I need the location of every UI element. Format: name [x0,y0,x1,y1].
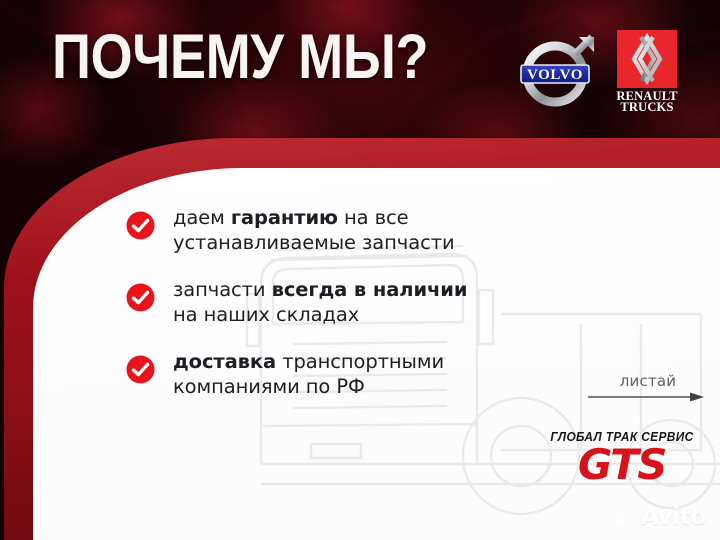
brand-logos: VOLVO RENAULT TRUCKS [518,30,678,112]
text-run: компаниями по РФ [173,375,365,398]
text-run: на все [338,206,409,229]
company-logo: ГЛОБАЛ ТРАК СЕРВИС GTS [537,430,707,488]
svg-text:GTS: GTS [578,442,666,488]
avito-dots-icon [615,506,637,526]
check-circle-icon [126,211,155,240]
volvo-iron-mark-logo: VOLVO [518,30,600,108]
benefits-list: даем гарантию на все устанавливаемые зап… [126,206,556,422]
avito-watermark: Avito [615,502,706,530]
text-run: транспортными [276,350,444,373]
page-title: ПОЧЕМУ МЫ? [52,26,428,89]
company-tagline: ГЛОБАЛ ТРАК СЕРВИС [541,430,703,444]
check-circle-icon [126,355,155,384]
text-run-bold: гарантию [231,206,338,229]
list-item: даем гарантию на все устанавливаемые зап… [126,206,556,255]
renault-diamond-logo: RENAULT TRUCKS [616,30,678,112]
text-run-bold: всегда в наличии [272,278,468,301]
avito-wordmark: Avito [640,502,706,530]
volvo-wordmark: VOLVO [527,67,583,83]
swipe-hint: листай [588,372,708,403]
text-run: на наших складах [173,303,359,326]
text-run: запчасти [173,278,272,301]
check-circle-icon [126,283,155,312]
renault-line2: TRUCKS [620,100,673,112]
arrow-right-icon [588,391,708,403]
swipe-hint-label: листай [588,372,708,390]
gts-wordmark: GTS [537,442,707,488]
promo-poster: ПОЧЕМУ МЫ? VOLVO [0,0,720,540]
text-run-bold: доставка [173,350,276,373]
list-item-text: даем гарантию на все устанавливаемые зап… [173,206,455,255]
text-run: устанавливаемые запчасти [173,231,455,254]
list-item-text: запчасти всегда в наличии на наших склад… [173,278,467,327]
list-item-text: доставка транспортными компаниями по РФ [173,350,444,399]
text-run: даем [173,206,231,229]
list-item: запчасти всегда в наличии на наших склад… [126,278,556,327]
list-item: доставка транспортными компаниями по РФ [126,350,556,399]
